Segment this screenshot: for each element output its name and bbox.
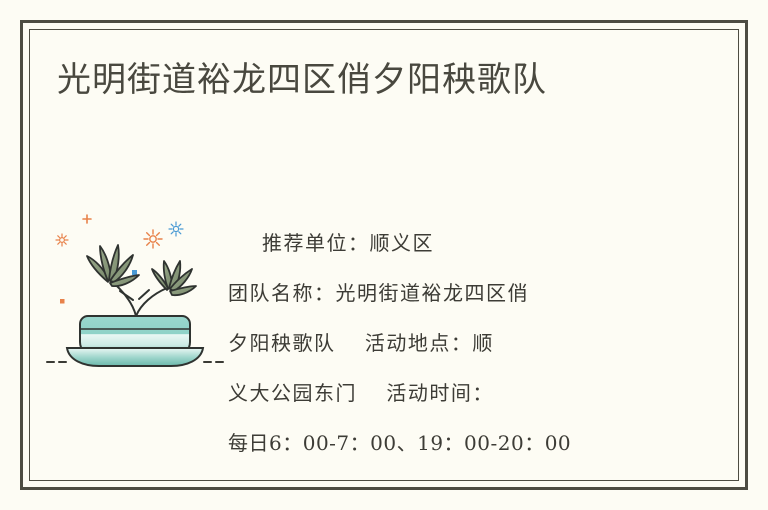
detail-line-recommending-unit: 推荐单位：顺义区: [228, 218, 658, 268]
succulent-leaves-right: [152, 261, 196, 295]
potted-plant-illustration: [45, 196, 225, 376]
sparkle-star-orange-small-icon: [56, 234, 68, 246]
detail-line-activity-time: 每日6：00-7：00、19：00-20：00: [228, 418, 658, 468]
detail-line-team-name-cont: 夕阳秧歌队 活动地点：顺: [228, 318, 658, 368]
succulent-leaves-left: [87, 245, 139, 286]
detail-line-team-name: 团队名称：光明街道裕龙四区俏: [228, 268, 658, 318]
sparkle-dot-orange-icon: [60, 299, 65, 304]
sparkle-dot-blue-icon: [132, 270, 137, 275]
poster-card: 光明街道裕龙四区俏夕阳秧歌队: [0, 0, 768, 510]
sparkle-star-orange-large-icon: [144, 230, 162, 248]
sparkle-plus-orange-icon: [83, 215, 91, 223]
activity-details-block: 推荐单位：顺义区 团队名称：光明街道裕龙四区俏 夕阳秧歌队 活动地点：顺 义大公…: [228, 218, 658, 468]
pot-saucer: [67, 348, 203, 366]
sparkle-star-blue-icon: [169, 222, 183, 236]
detail-line-activity-place: 义大公园东门 活动时间：: [228, 368, 658, 418]
page-title: 光明街道裕龙四区俏夕阳秧歌队: [57, 58, 547, 102]
